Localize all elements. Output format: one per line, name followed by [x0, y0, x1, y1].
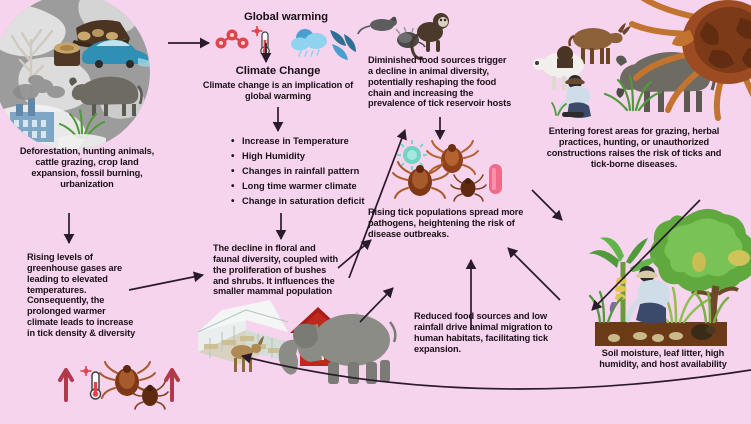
- entering-forest-areas-text: Entering forest areas for grazing, herba…: [518, 126, 750, 169]
- herder-person: [557, 46, 573, 68]
- greenhouse-illustration: [198, 300, 288, 364]
- climate-change-subtitle: Climate change is an implication of glob…: [192, 80, 364, 102]
- log-pile: [72, 20, 130, 48]
- co2-molecule-icon: [216, 30, 249, 49]
- climate-change-title: Climate Change: [198, 65, 358, 78]
- goat: [570, 23, 632, 64]
- tick-bottom-large: [100, 362, 155, 398]
- infographic-canvas: Global warming Climate Change Climate ch…: [0, 0, 751, 424]
- floral-faunal-decline-text: The decline in floral and faunal diversi…: [213, 243, 373, 297]
- grazing-livestock-scene: [533, 23, 715, 118]
- climate-effect-item: Increase in Temperature: [242, 134, 422, 149]
- tree-stump: [54, 43, 80, 67]
- thermometer-up-arrows: [60, 362, 178, 409]
- global-warming-title: Global warming: [206, 11, 366, 24]
- giant-tick-illustration: [632, 0, 751, 118]
- grass-tuft: [60, 110, 104, 138]
- farmer-harvesting: [628, 266, 670, 324]
- greenhouse-gases-text: Rising levels of greenhouse gases are le…: [27, 252, 177, 339]
- tick-bottom-small: [132, 382, 168, 409]
- climate-effect-item: Long time warmer climate: [242, 179, 422, 194]
- climate-effect-item: Changes in rainfall pattern: [242, 164, 422, 179]
- deer: [231, 336, 264, 372]
- big-tree: [650, 209, 751, 322]
- shrub-grass-left: [590, 292, 622, 322]
- forest-farming-scene: [589, 209, 751, 346]
- globe-scene: [0, 0, 156, 161]
- climate-effects-list: Increase in Temperature High Humidity Ch…: [228, 134, 422, 209]
- rain-cloud-icon: [291, 29, 327, 56]
- thermometer-icon-2: [81, 366, 101, 399]
- bare-tree-small: [330, 313, 368, 372]
- tick-small: [451, 175, 486, 201]
- rising-tick-populations-text: Rising tick populations spread more path…: [368, 207, 546, 240]
- rodent-monkey-group: [358, 13, 449, 58]
- elephant: [279, 314, 396, 384]
- cow-grazing: [616, 52, 714, 112]
- wind-icon: [330, 30, 356, 60]
- arrow-forest-to-reduced: [592, 200, 700, 310]
- house-elephant-deer-scene: [231, 307, 395, 384]
- bacteria-icon: [489, 164, 502, 194]
- factory: [10, 75, 65, 142]
- soil-moisture-caption: Soil moisture, leaf litter, high humidit…: [578, 348, 748, 370]
- grass-clump: [605, 76, 661, 110]
- banana-plant: [589, 237, 658, 322]
- cow: [69, 77, 141, 116]
- arrow-forest-to-rising: [508, 248, 560, 300]
- deforestation-caption: Deforestation, hunting animals, cattle g…: [2, 146, 172, 189]
- red-house: [290, 307, 346, 366]
- farmer-planting: [552, 75, 591, 118]
- thermometer-hot-icon: [252, 26, 270, 55]
- diminished-food-sources-text: Diminished food sources trigger a declin…: [368, 55, 538, 109]
- hedgehog: [396, 27, 425, 48]
- monkey: [412, 13, 449, 58]
- reduced-food-sources-text: Reduced food sources and low rainfall dr…: [414, 311, 576, 354]
- climate-effect-item: High Humidity: [242, 149, 422, 164]
- sheep: [533, 52, 584, 90]
- grass-cluster-right: [644, 288, 728, 322]
- tick-large-1: [427, 141, 478, 174]
- car: [82, 40, 156, 68]
